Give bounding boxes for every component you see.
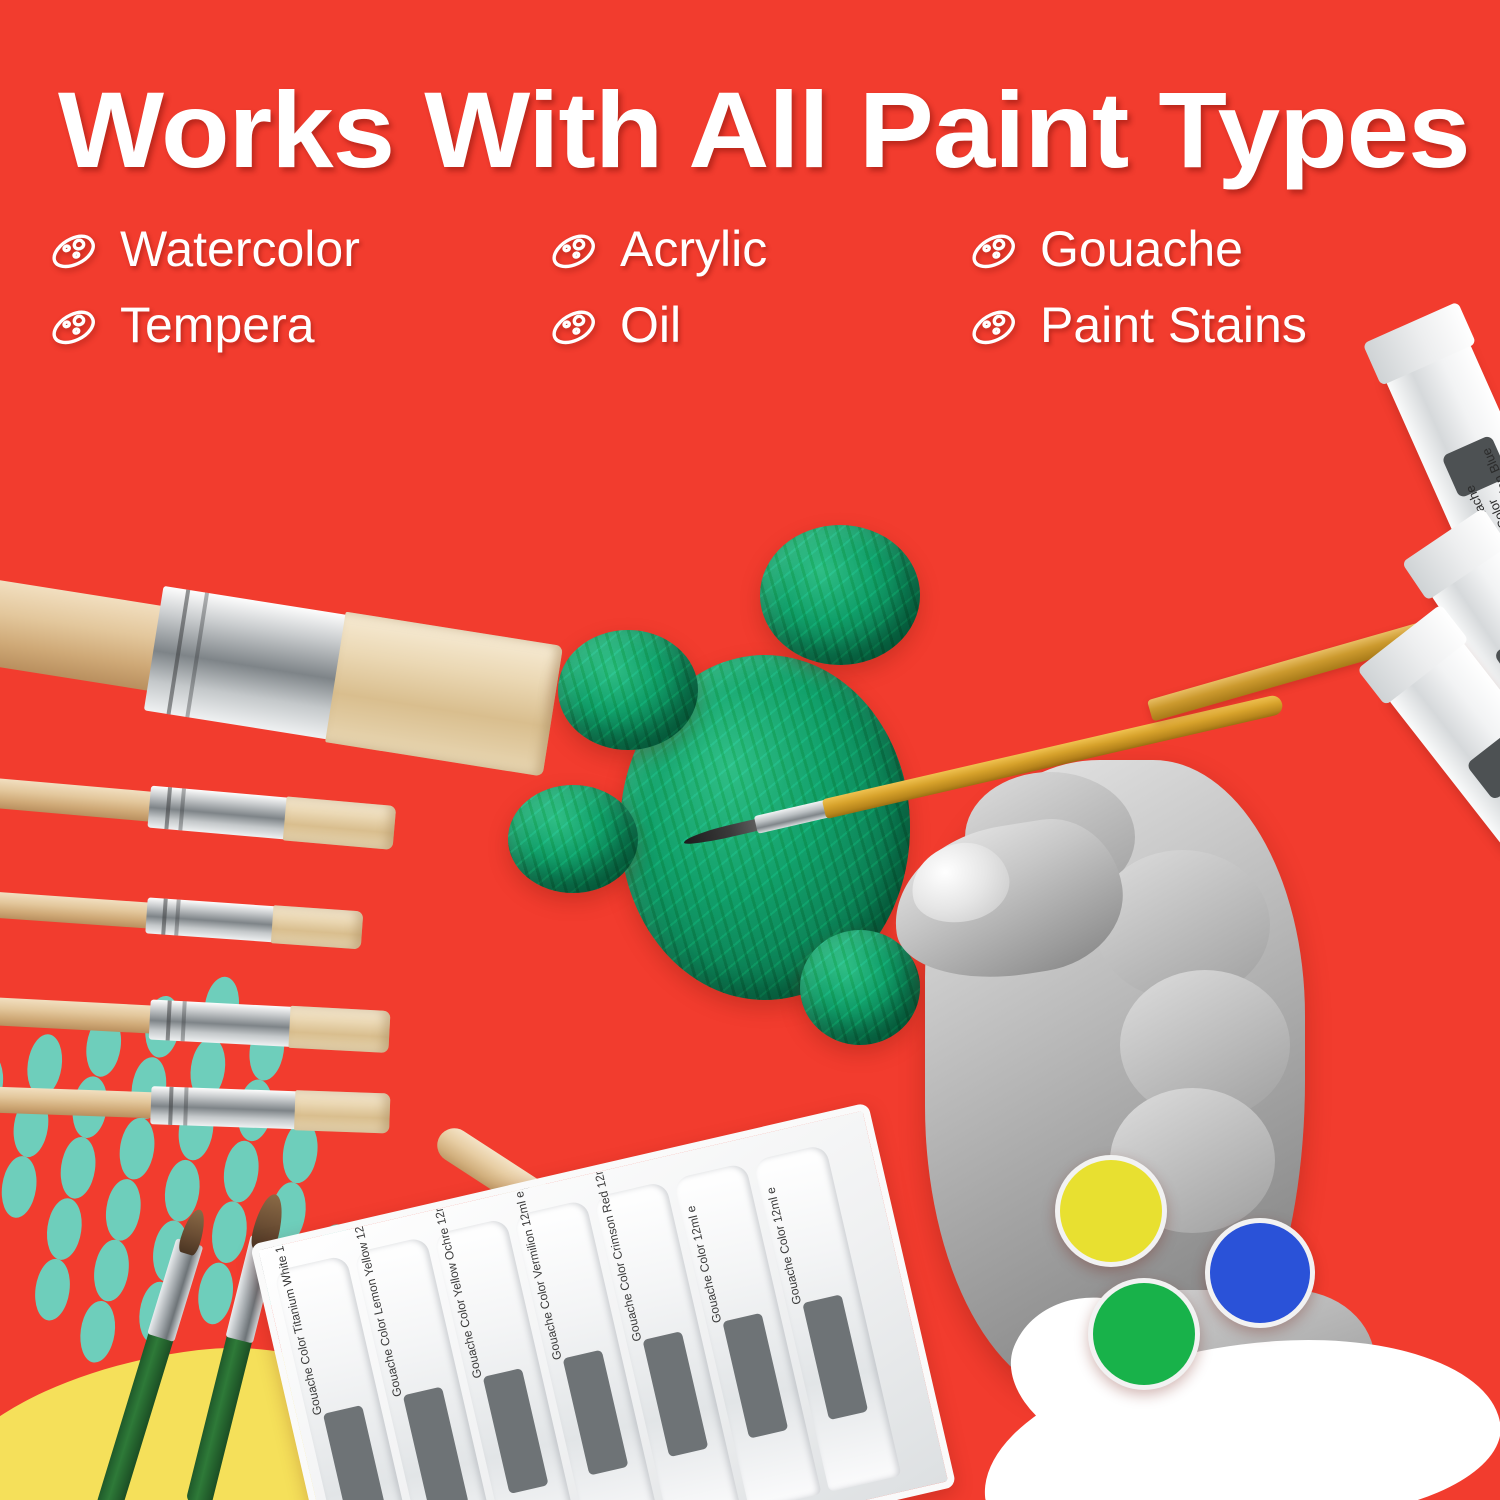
tube-color-swatch — [403, 1386, 469, 1500]
feature-label: Tempera — [120, 297, 315, 353]
palette-icon — [972, 229, 1018, 269]
yellow-paint-pot — [1055, 1155, 1167, 1267]
feature-label: Watercolor — [120, 221, 360, 277]
flat-brush-2 — [0, 770, 390, 847]
feature-label: Gouache — [1040, 221, 1243, 277]
feature-item-tempera: Tempera — [52, 294, 552, 356]
feature-column-2: Acrylic Oil — [552, 218, 972, 356]
gouache-tube-mauve: Gouache Color Mauve 12ml e — [1386, 639, 1500, 854]
feature-label: Oil — [620, 297, 681, 353]
painted-rock-leg-lower-left — [508, 785, 638, 893]
tube-color-swatch — [323, 1405, 389, 1500]
palette-icon — [552, 305, 598, 345]
flat-brush-3 — [0, 885, 345, 946]
tube-color-swatch — [802, 1294, 868, 1420]
paint-type-feature-list: Watercolor Tempera — [52, 218, 1462, 356]
feature-item-acrylic: Acrylic — [552, 218, 972, 280]
palette-icon — [52, 305, 98, 345]
product-marketing-image: Works With All Paint Types Watercolor — [0, 0, 1500, 1500]
gouache-tube-tray: Gouache Color Titanium White 12ml eGouac… — [250, 1102, 956, 1500]
tube-color-swatch — [483, 1368, 549, 1494]
blue-paint-pot — [1205, 1218, 1315, 1328]
feature-item-gouache: Gouache — [972, 218, 1452, 280]
feature-label: Acrylic — [620, 221, 767, 277]
flat-brush-large — [0, 561, 414, 746]
palette-icon — [972, 305, 1018, 345]
tube-label: Gouache Color Titanium White 12ml e — [284, 1297, 325, 1417]
painted-rock-head — [760, 525, 920, 665]
palette-icon — [52, 229, 98, 269]
feature-label: Paint Stains — [1040, 297, 1307, 353]
tube-color-swatch — [642, 1331, 708, 1457]
painted-rock-leg-upper-left — [558, 630, 698, 750]
tube-color-swatch — [563, 1350, 629, 1476]
green-paint-pot — [1088, 1278, 1200, 1390]
feature-item-oil: Oil — [552, 294, 972, 356]
flat-brush-4 — [0, 990, 370, 1050]
page-title: Works With All Paint Types — [58, 78, 1500, 182]
feature-column-1: Watercolor Tempera — [52, 218, 552, 356]
tube-color-swatch — [722, 1313, 788, 1439]
flat-brush-5 — [0, 1080, 375, 1131]
feature-item-watercolor: Watercolor — [52, 218, 552, 280]
palette-icon — [552, 229, 598, 269]
